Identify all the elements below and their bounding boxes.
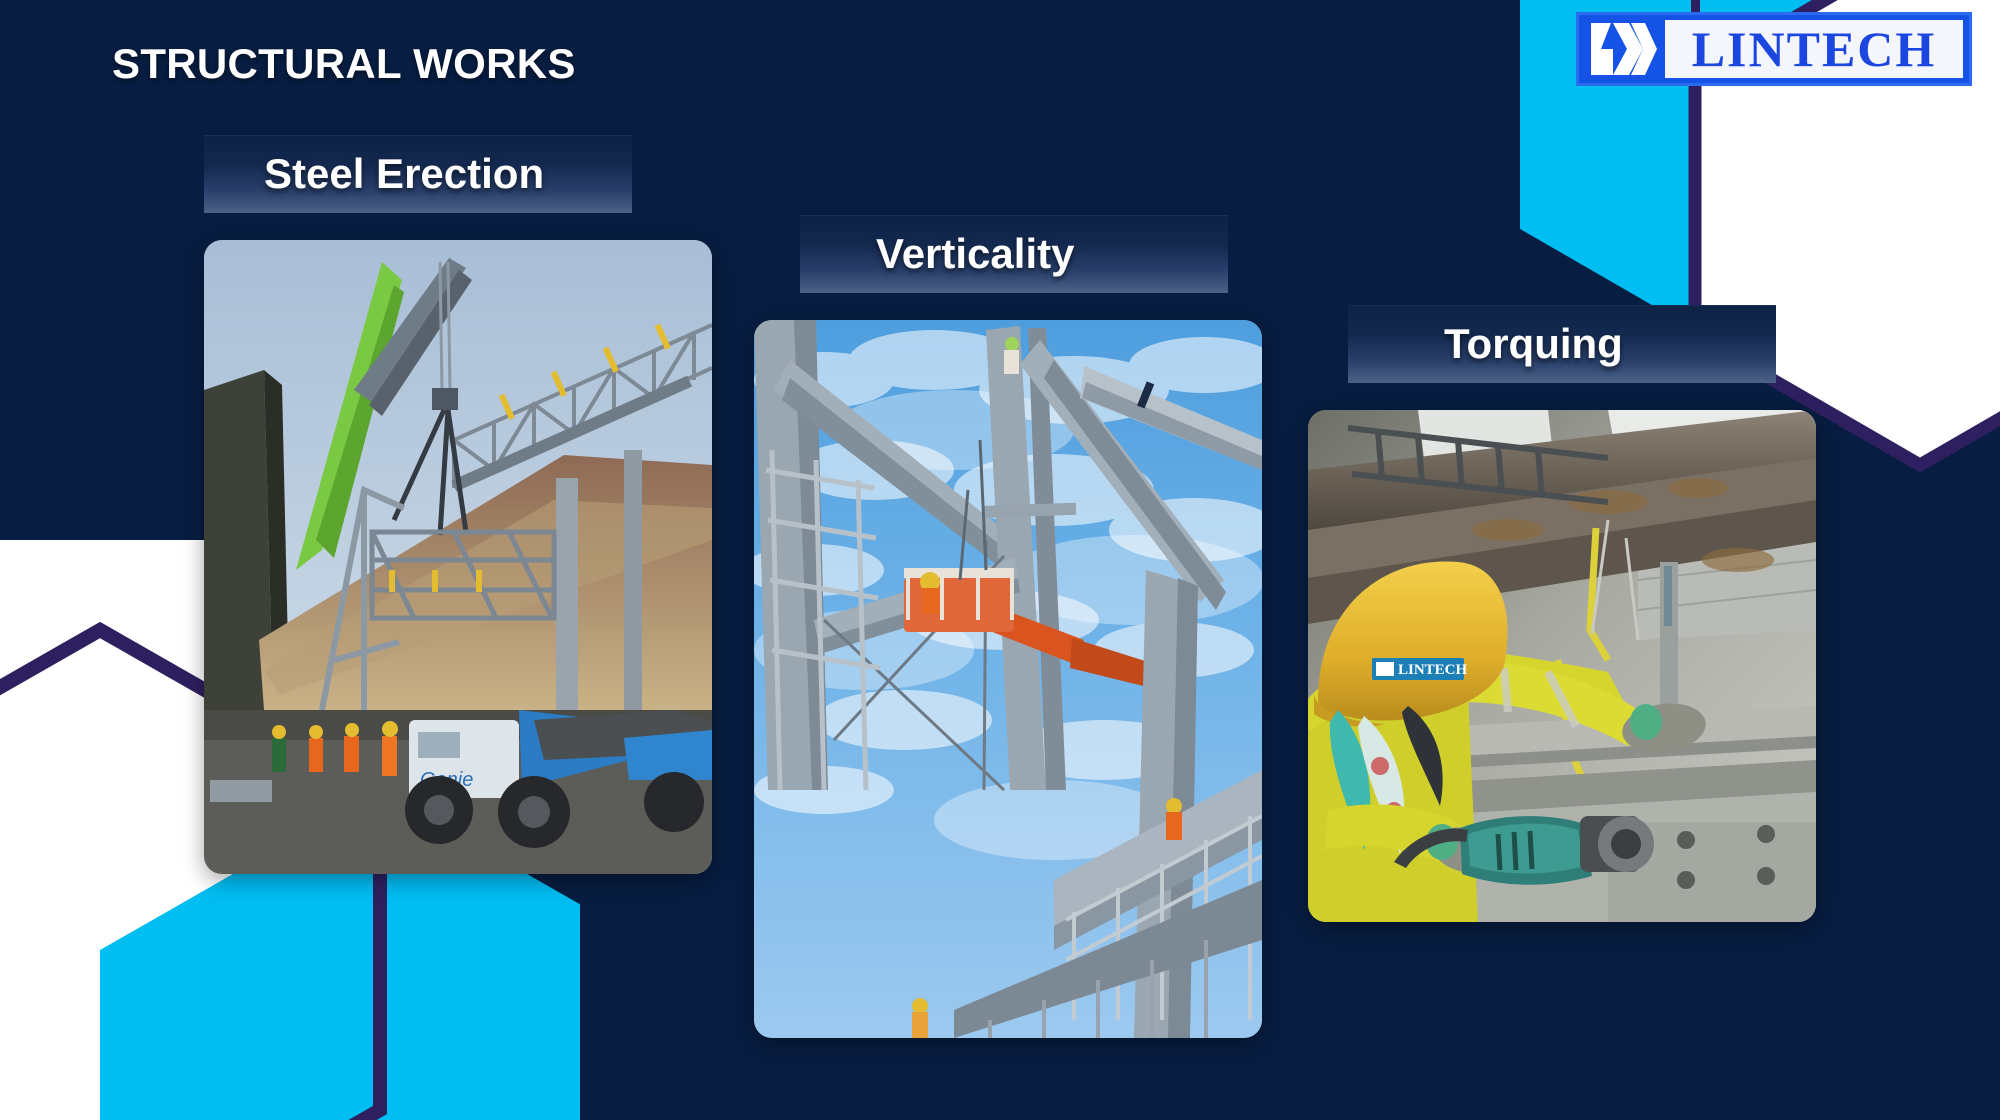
- lintech-wordmark: LINTECH: [1692, 24, 1937, 74]
- photo-steel-erection-image: Genie: [204, 240, 712, 874]
- card-label-torquing: Torquing: [1348, 305, 1776, 383]
- photo-torquing-image: LINTECH: [1308, 410, 1816, 922]
- page-title: STRUCTURAL WORKS: [112, 40, 576, 88]
- lintech-logo: LINTECH: [1576, 12, 1972, 86]
- lintech-chevron-logo-icon: [1579, 15, 1665, 83]
- card-label-verticality: Verticality: [800, 215, 1228, 293]
- photo-verticality-image: [754, 320, 1262, 1038]
- photo-verticality: [754, 320, 1262, 1038]
- card-label-text: Torquing: [1444, 320, 1623, 368]
- slide-canvas: STRUCTURAL WORKS Steel Erection: [0, 0, 2000, 1120]
- photo-torquing: LINTECH: [1308, 410, 1816, 922]
- svg-text:LINTECH: LINTECH: [1398, 662, 1468, 678]
- card-label-text: Steel Erection: [264, 150, 544, 198]
- photo-steel-erection: Genie: [204, 240, 712, 874]
- lintech-wordmark-plate: LINTECH: [1665, 20, 1963, 78]
- card-label-steel-erection: Steel Erection: [204, 135, 632, 213]
- card-label-text: Verticality: [876, 230, 1074, 278]
